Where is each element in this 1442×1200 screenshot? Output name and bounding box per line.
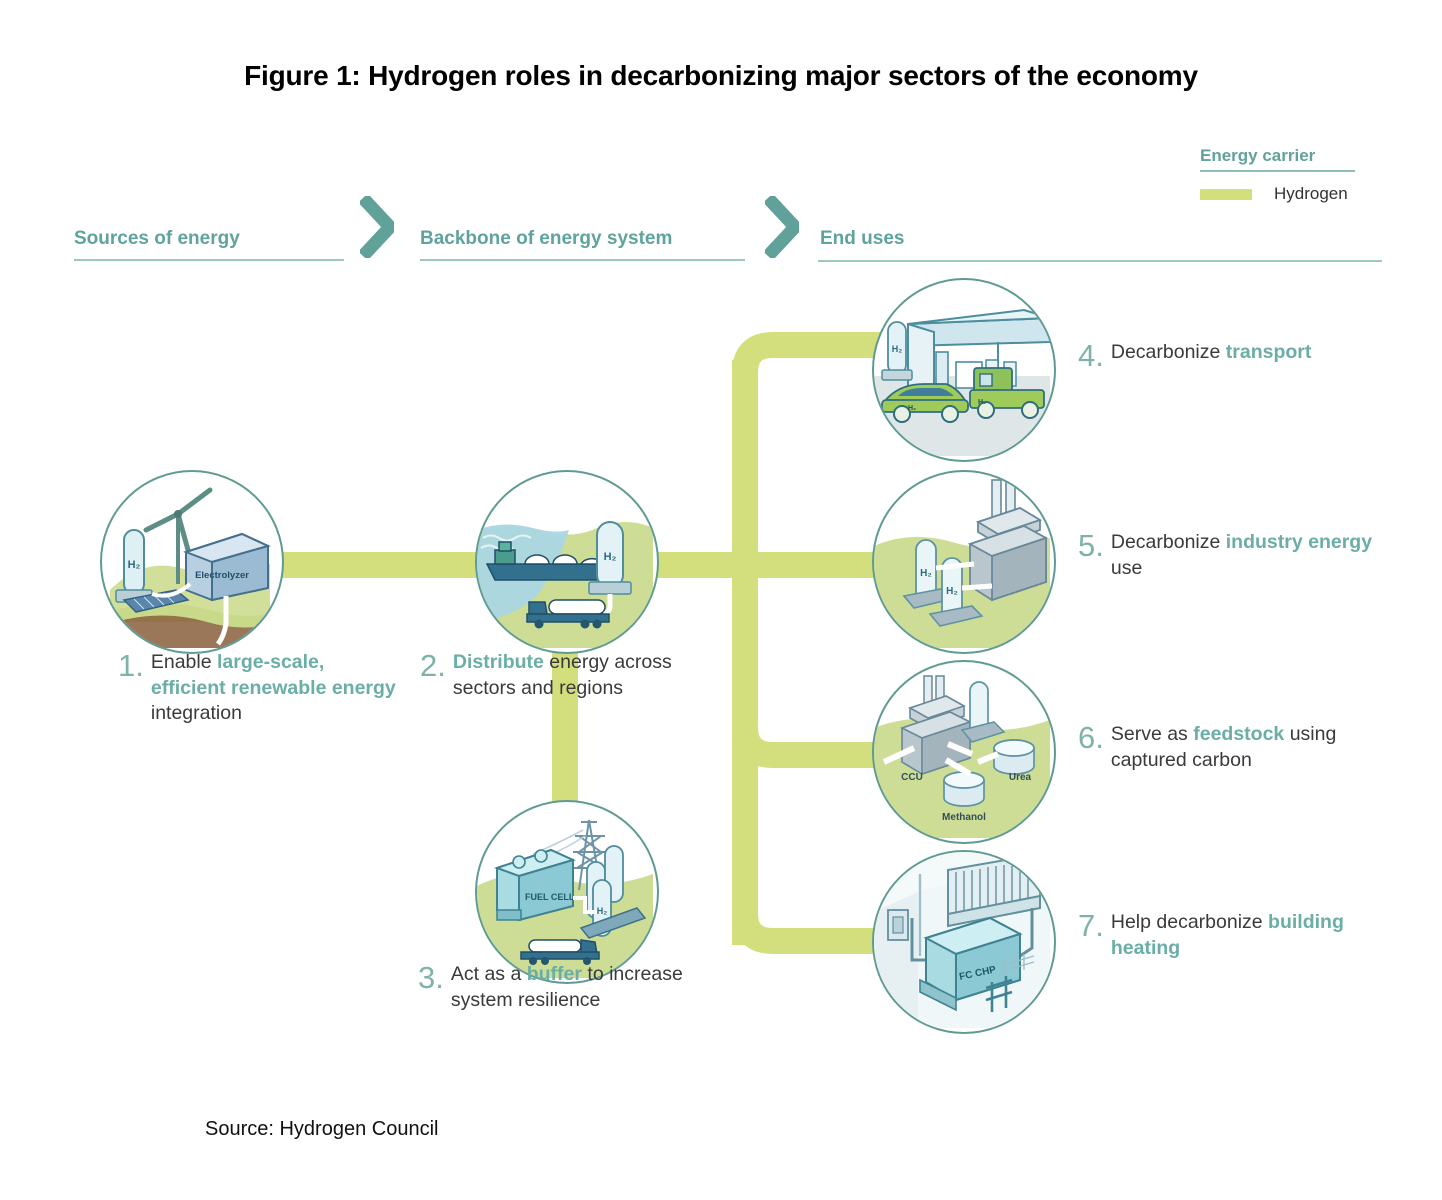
step-text-highlight: buffer (527, 963, 582, 985)
step-text-part: Decarbonize (1111, 341, 1226, 363)
svg-text:Methanol: Methanol (942, 812, 986, 823)
svg-text:H₂: H₂ (604, 551, 617, 563)
step-text: Enable large-scale, efficient renewable … (151, 650, 398, 727)
step-text-highlight: industry energy (1226, 531, 1372, 553)
svg-text:CCU: CCU (901, 772, 923, 783)
step-text-part: Enable (151, 651, 217, 673)
illustration-circle-building-heating: FC CHP (872, 850, 1056, 1034)
illustration-circle-industry-energy: H₂ H₂ (872, 470, 1056, 654)
caption-step-2: 2. Distribute energy across sectors and … (420, 650, 730, 701)
step-number: 1. (118, 650, 144, 681)
step-text: Act as a buffer to increase system resil… (451, 962, 748, 1013)
svg-text:Urea: Urea (1009, 772, 1032, 783)
step-text-part: Decarbonize (1111, 531, 1226, 553)
step-text-highlight: Distribute (453, 651, 544, 673)
svg-text:H₂: H₂ (128, 559, 141, 571)
step-number: 5. (1078, 530, 1104, 561)
step-number: 6. (1078, 722, 1104, 753)
caption-step-1: 1. Enable large-scale, efficient renewab… (118, 650, 398, 727)
step-number: 2. (420, 650, 446, 681)
step-text: Decarbonize industry energy use (1111, 530, 1378, 581)
caption-step-4: 4. Decarbonize transport (1078, 340, 1368, 371)
illustration-circle-transport-refuelling: H₂ H₂ H₂ (872, 278, 1056, 462)
step-text: Serve as feedstock using captured carbon (1111, 722, 1378, 773)
step-text-highlight: transport (1226, 341, 1312, 363)
step-text: Decarbonize transport (1111, 340, 1368, 366)
svg-text:Electrolyzer: Electrolyzer (195, 570, 249, 581)
step-text-part: use (1111, 557, 1142, 579)
step-text-part: Serve as (1111, 723, 1193, 745)
step-number: 3. (418, 962, 444, 993)
caption-step-7: 7. Help decarbonize building heating (1078, 910, 1368, 961)
illustration-circle-fuel-cell-buffer: FUEL CELL H₂ (475, 800, 659, 984)
svg-text:H₂: H₂ (946, 586, 958, 597)
svg-text:FUEL CELL: FUEL CELL (525, 892, 575, 902)
step-text-part: integration (151, 702, 242, 724)
source-note: Source: Hydrogen Council (205, 1118, 438, 1141)
svg-text:H₂: H₂ (920, 568, 932, 579)
svg-text:H₂: H₂ (892, 344, 903, 354)
step-text-part: Act as a (451, 963, 527, 985)
caption-step-3: 3. Act as a buffer to increase system re… (418, 962, 748, 1013)
illustration-circle-distribution-shipping: H₂ (475, 470, 659, 654)
step-number: 4. (1078, 340, 1104, 371)
illustration-circle-feedstock-ccu: CCU Urea Methanol (872, 660, 1056, 844)
caption-step-5: 5. Decarbonize industry energy use (1078, 530, 1378, 581)
svg-text:H₂: H₂ (597, 906, 608, 916)
step-text-part: Help decarbonize (1111, 911, 1268, 933)
caption-step-6: 6. Serve as feedstock using captured car… (1078, 722, 1378, 773)
step-text-highlight: feedstock (1193, 723, 1284, 745)
svg-text:H₂: H₂ (978, 399, 986, 406)
svg-text:H₂: H₂ (908, 405, 916, 412)
illustration-circle-renewable-electrolysis: H₂ Electrolyzer (100, 470, 284, 654)
step-number: 7. (1078, 910, 1104, 941)
step-text: Help decarbonize building heating (1111, 910, 1368, 961)
step-text: Distribute energy across sectors and reg… (453, 650, 730, 701)
